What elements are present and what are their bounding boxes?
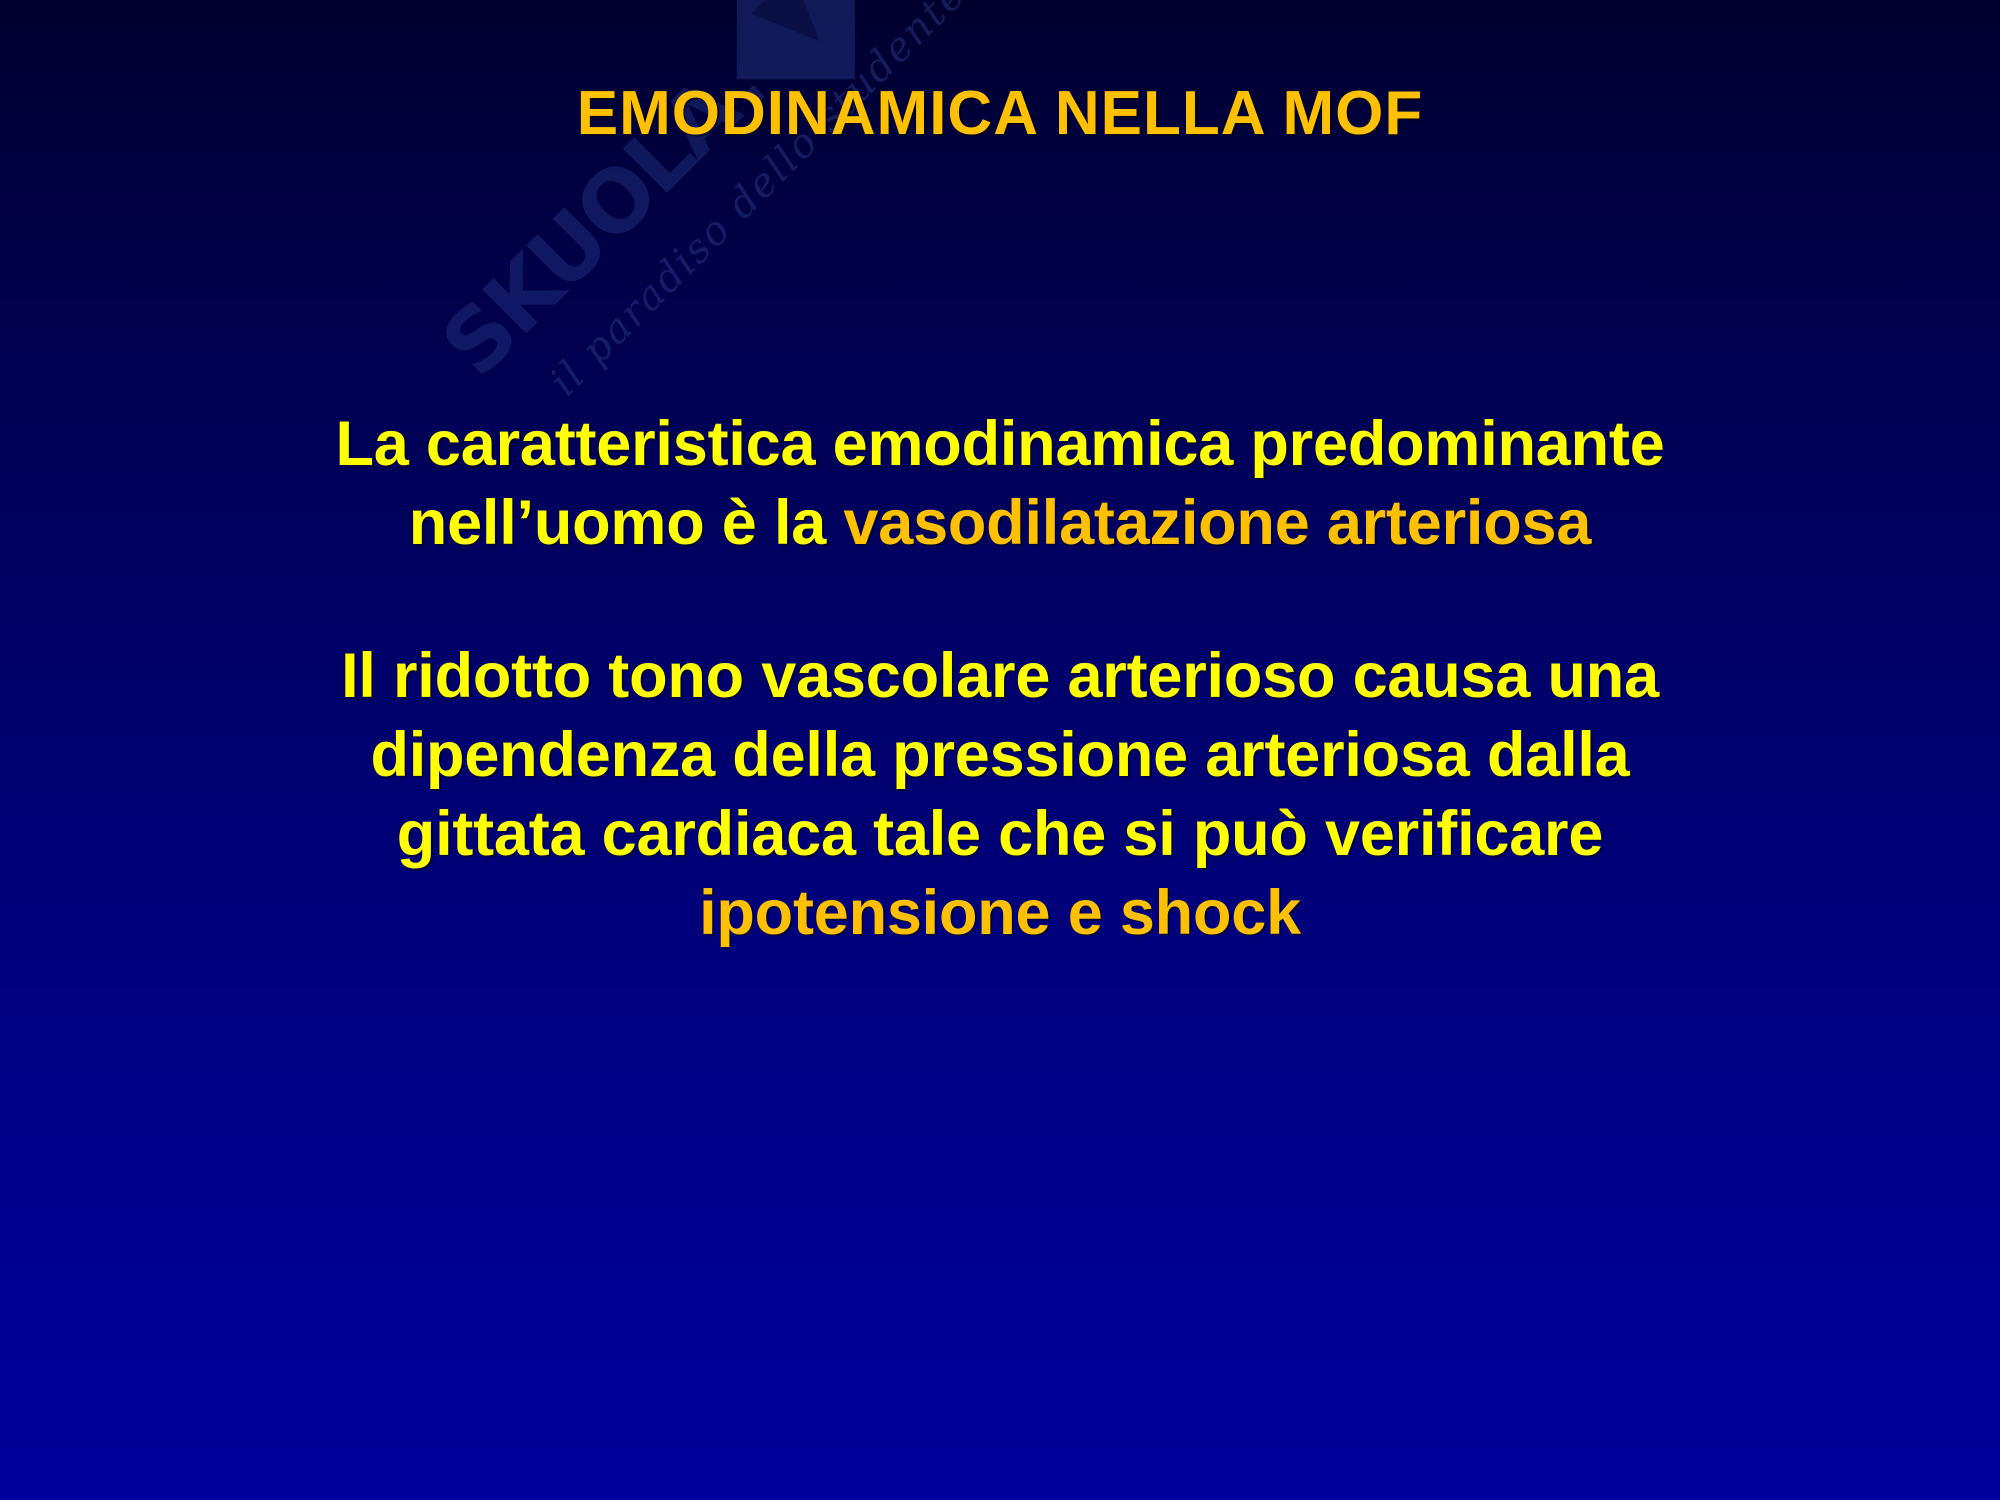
text-segment: dipendenza della pressione arteriosa dal…: [370, 720, 1629, 790]
text-line: ipotensione e shock: [80, 874, 1920, 953]
paragraph-p1: La caratteristica emodinamica predominan…: [80, 405, 1920, 563]
slide-body: La caratteristica emodinamica predominan…: [80, 405, 1920, 953]
text-segment: vasodilatazione arteriosa: [843, 488, 1591, 558]
text-line: gittata cardiaca tale che si può verific…: [80, 795, 1920, 874]
text-line: La caratteristica emodinamica predominan…: [80, 405, 1920, 484]
text-line: nell’uomo è la vasodilatazione arteriosa: [80, 484, 1920, 563]
text-segment: gittata cardiaca tale che si può verific…: [397, 799, 1603, 869]
slide-content: EMODINAMICA NELLA MOF La caratteristica …: [0, 0, 2000, 1500]
text-line: Il ridotto tono vascolare arterioso caus…: [80, 637, 1920, 716]
text-segment: La caratteristica emodinamica predominan…: [335, 409, 1664, 479]
paragraph-spacer: [80, 563, 1920, 637]
slide-title: EMODINAMICA NELLA MOF: [0, 78, 2000, 149]
text-segment: ipotensione e shock: [699, 878, 1301, 948]
text-segment: nell’uomo è la: [409, 488, 844, 558]
text-line: dipendenza della pressione arteriosa dal…: [80, 716, 1920, 795]
text-segment: Il ridotto tono vascolare arterioso caus…: [341, 641, 1659, 711]
presentation-slide: SKUOLA . il paradiso dello studente EMOD…: [0, 0, 2000, 1500]
paragraph-p2: Il ridotto tono vascolare arterioso caus…: [80, 637, 1920, 953]
